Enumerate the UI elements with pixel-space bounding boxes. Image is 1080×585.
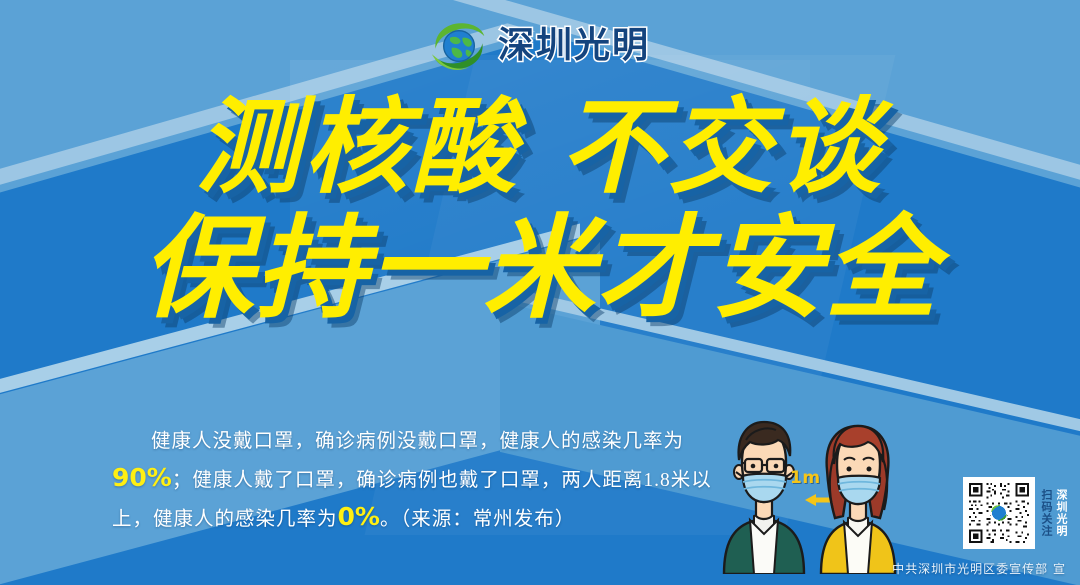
qr-scan-text: 扫码关注 (1040, 489, 1053, 537)
globe-leaf-logo-icon (430, 18, 488, 74)
body-segment-3: 。（来源：常州发布） (380, 509, 575, 530)
woman-with-mask (821, 426, 895, 574)
covid-prevention-poster: 深圳光明 测核酸 不交谈 保持一米才安全 健康人没戴口罩，确诊病例没戴口罩，健康… (0, 0, 1080, 585)
publisher-credit: 中共深圳市光明区委宣传部 宣 (892, 560, 1066, 577)
headline-line-1: 测核酸 不交谈 (0, 92, 1080, 202)
headline-block: 测核酸 不交谈 保持一米才安全 (0, 92, 1080, 329)
stat-infection-rate-no-mask: 90% (112, 463, 172, 492)
body-segment-1: 健康人没戴口罩，确诊病例没戴口罩，健康人的感染几率为 (151, 431, 684, 452)
brand-header: 深圳光明 (0, 18, 1080, 74)
man-with-glasses-and-mask (724, 422, 804, 574)
qr-code-icon[interactable] (963, 477, 1035, 549)
stat-infection-rate-with-mask: 0% (338, 502, 380, 531)
headline-line-2: 保持一米才安全 (0, 210, 1080, 329)
qr-side-text: 扫码关注 深圳光明 (1040, 489, 1068, 537)
distance-label: 1m (790, 468, 821, 488)
qr-brand-text: 深圳光明 (1055, 489, 1068, 537)
brand-title: 深圳光明 (498, 28, 650, 64)
qr-follow-block[interactable]: 扫码关注 深圳光明 (963, 477, 1068, 549)
body-paragraph: 健康人没戴口罩，确诊病例没戴口罩，健康人的感染几率为90%；健康人戴了口罩，确诊… (112, 424, 722, 538)
